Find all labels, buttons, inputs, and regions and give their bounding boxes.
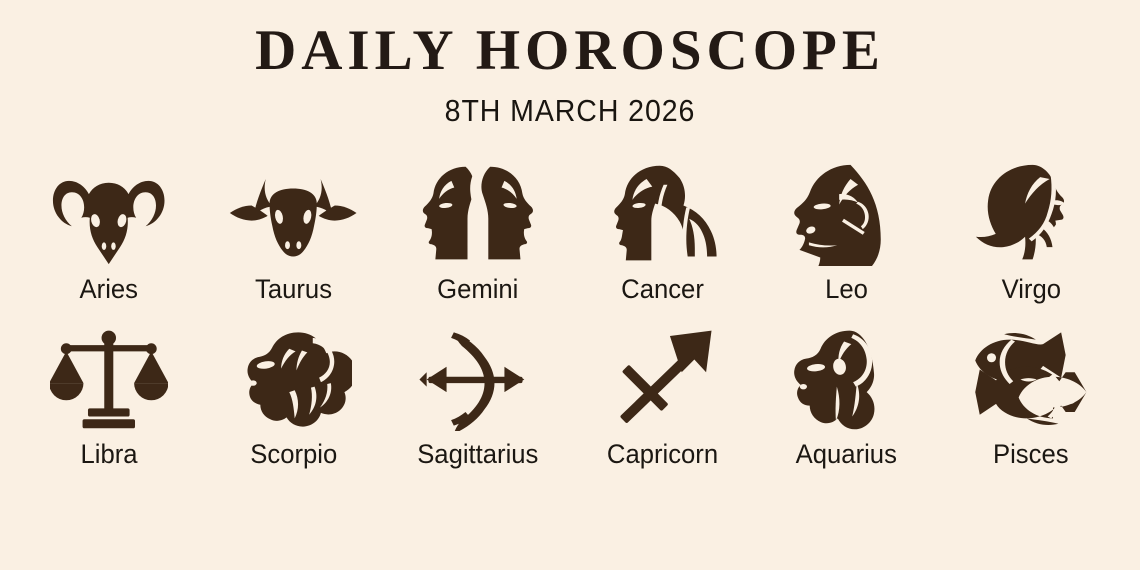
zodiac-item-leo[interactable]: Leo xyxy=(760,160,934,303)
balance-scales-icon xyxy=(50,325,168,433)
zodiac-label: Cancer xyxy=(621,276,704,303)
zodiac-item-pisces[interactable]: Pisces xyxy=(944,325,1118,468)
horoscope-poster: DAILY HOROSCOPE 8TH MARCH 2026 Aries xyxy=(0,0,1140,570)
zodiac-item-capricorn[interactable]: Capricorn xyxy=(575,325,749,468)
zodiac-grid: Aries Taurus xyxy=(0,160,1140,468)
zodiac-label: Virgo xyxy=(1001,276,1060,303)
zodiac-item-libra[interactable]: Libra xyxy=(22,325,196,468)
zodiac-item-aquarius[interactable]: Aquarius xyxy=(760,325,934,468)
maiden-profile-icon xyxy=(974,160,1087,268)
goat-head-icon xyxy=(788,325,906,433)
bow-and-arrow-icon xyxy=(414,325,541,433)
zodiac-item-taurus[interactable]: Taurus xyxy=(206,160,380,303)
twin-faces-icon xyxy=(407,160,549,268)
ram-head-icon xyxy=(52,160,165,268)
zodiac-item-aries[interactable]: Aries xyxy=(22,160,196,303)
horned-beast-head-icon xyxy=(235,325,353,433)
zodiac-label: Capricorn xyxy=(607,441,718,468)
zodiac-item-sagittarius[interactable]: Sagittarius xyxy=(391,325,565,468)
zodiac-label: Sagittarius xyxy=(417,441,538,468)
zodiac-label: Aries xyxy=(80,276,138,303)
zodiac-row-1: Aries Taurus xyxy=(0,160,1140,303)
bull-head-icon xyxy=(227,160,359,268)
lion-head-icon xyxy=(790,160,903,268)
zodiac-item-virgo[interactable]: Virgo xyxy=(944,160,1118,303)
page-date: 8TH MARCH 2026 xyxy=(46,93,1095,129)
zodiac-label: Aquarius xyxy=(796,441,897,468)
two-fish-icon xyxy=(968,325,1095,433)
zodiac-label: Taurus xyxy=(255,276,332,303)
page-title: DAILY HOROSCOPE xyxy=(0,22,1140,79)
zodiac-label: Libra xyxy=(80,441,137,468)
arrow-crossbar-icon xyxy=(603,325,721,433)
zodiac-label: Scorpio xyxy=(250,441,337,468)
zodiac-item-scorpio[interactable]: Scorpio xyxy=(206,325,380,468)
woman-profile-icon xyxy=(605,160,718,268)
zodiac-label: Gemini xyxy=(437,276,518,303)
zodiac-item-gemini[interactable]: Gemini xyxy=(391,160,565,303)
poster-header: DAILY HOROSCOPE 8TH MARCH 2026 xyxy=(0,0,1140,129)
zodiac-item-cancer[interactable]: Cancer xyxy=(575,160,749,303)
zodiac-label: Leo xyxy=(825,276,868,303)
zodiac-row-2: Libra Scorpio xyxy=(0,325,1140,468)
zodiac-label: Pisces xyxy=(993,441,1069,468)
